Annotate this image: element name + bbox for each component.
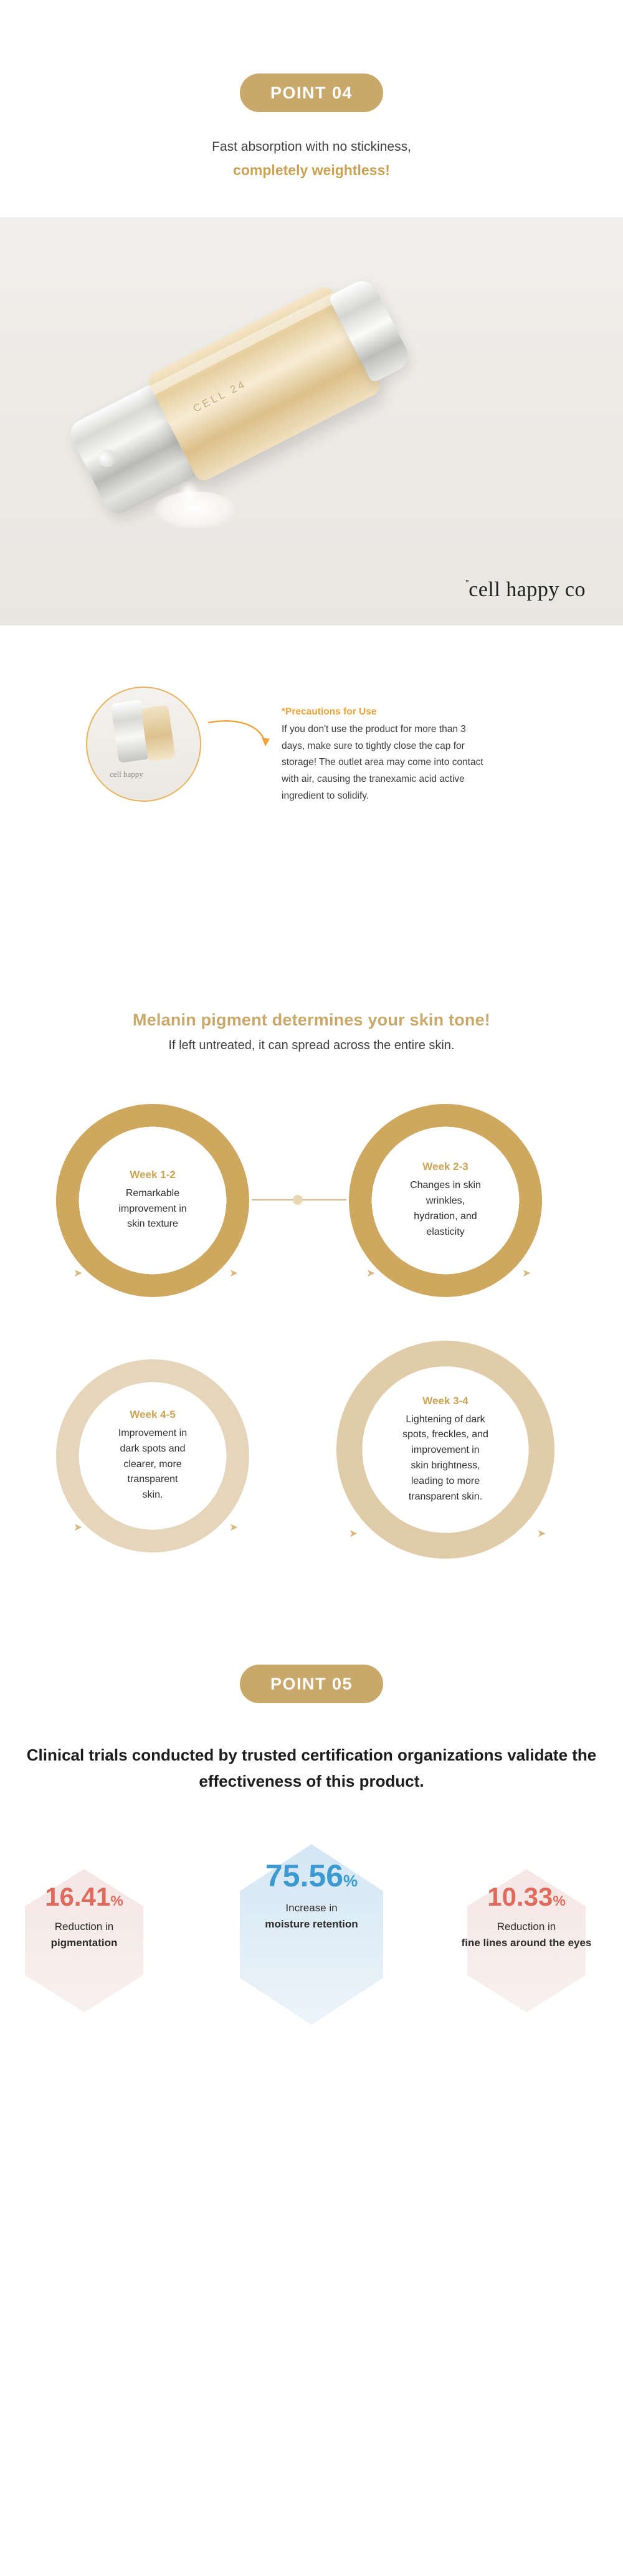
timeline-step-4: Week 3-4 Lightening of dark spots, freck… (336, 1341, 554, 1559)
product-bottle-image: CELL 24 (54, 233, 457, 541)
stat-3-value-group: 10.33% (461, 1884, 592, 1910)
flow-arrow-icon-3: ➤ (366, 1267, 375, 1280)
step-1-week: Week 1-2 (130, 1169, 175, 1181)
stat-card-2: 75.56% Increase in moisture retention (237, 1860, 386, 1932)
stat-1-value-group: 16.41% (19, 1884, 150, 1910)
stat-2-unit: % (343, 1871, 358, 1890)
flow-arrow-icon-4: ➤ (522, 1267, 531, 1280)
point-04-subtitle-line1: Fast absorption with no stickiness, (0, 140, 623, 154)
stat-1-value: 16.41 (45, 1882, 110, 1911)
point-04-badge: POINT 04 (240, 74, 383, 112)
clinical-stats-section: 16.41% Reduction in pigmentation 75.56% … (0, 1848, 623, 2072)
stat-2-caption-line2: moisture retention (265, 1918, 358, 1930)
step-1-desc: Remarkable improvement in skin texture (117, 1186, 189, 1232)
stat-1-caption-line2: pigmentation (51, 1937, 118, 1949)
step-3-desc: Improvement in dark spots and clearer, m… (117, 1426, 189, 1503)
step-2-desc: Changes in skin wrinkles, hydration, and… (409, 1178, 482, 1240)
melanin-section: Melanin pigment determines your skin ton… (0, 1010, 623, 1053)
timeline-step-2: Week 2-3 Changes in skin wrinkles, hydra… (349, 1104, 542, 1297)
step-4-week: Week 3-4 (422, 1395, 468, 1407)
stat-3-caption: Reduction in fine lines around the eyes (461, 1919, 592, 1951)
product-photo-band: CELL 24 ”cell happy co (0, 217, 623, 625)
stat-2-caption-line1: Increase in (285, 1902, 337, 1914)
flow-arrow-icon-7: ➤ (349, 1528, 358, 1540)
cream-swatch (155, 492, 235, 529)
flow-arrow-icon-5: ➤ (74, 1521, 82, 1534)
point-05-heading: Clinical trials conducted by trusted cer… (0, 1742, 623, 1794)
step-3-week: Week 4-5 (130, 1409, 175, 1421)
stat-2-value-group: 75.56% (237, 1860, 386, 1891)
point-04-subtitle-line2: completely weightless! (0, 162, 623, 179)
precaution-body: If you don't use the product for more th… (282, 721, 487, 804)
stat-3-caption-line1: Reduction in (497, 1921, 556, 1932)
flow-arrow-icon-8: ➤ (537, 1528, 546, 1540)
stat-2-value: 75.56 (265, 1858, 343, 1893)
precaution-title: *Precautions for Use (282, 706, 487, 718)
diagram-connector-dot (293, 1195, 303, 1205)
stat-3-value: 10.33 (487, 1882, 553, 1911)
flow-arrow-icon-6: ➤ (229, 1521, 238, 1534)
bottle-label-text: CELL 24 (191, 378, 249, 415)
stat-1-caption-line1: Reduction in (55, 1921, 114, 1932)
timeline-step-1: Week 1-2 Remarkable improvement in skin … (56, 1104, 249, 1297)
step-2-week: Week 2-3 (422, 1161, 468, 1173)
timeline-step-3: Week 4-5 Improvement in dark spots and c… (56, 1359, 249, 1552)
flow-arrow-icon-1: ➤ (74, 1267, 82, 1280)
precaution-text-block: *Precautions for Use If you don't use th… (282, 706, 487, 804)
flow-arrow-icon-2: ➤ (229, 1267, 238, 1280)
timeline-diagram: Week 1-2 Remarkable improvement in skin … (0, 1091, 623, 1590)
stat-3-caption-line2: fine lines around the eyes (462, 1937, 592, 1949)
stat-3-unit: % (553, 1893, 565, 1909)
step-4-desc: Lightening of dark spots, freckles, and … (402, 1412, 488, 1505)
melanin-headline: Melanin pigment determines your skin ton… (0, 1010, 623, 1030)
stat-1-caption: Reduction in pigmentation (19, 1919, 150, 1951)
thumbnail-brand-label: cell happy (110, 769, 143, 779)
melanin-subtext: If left untreated, it can spread across … (0, 1038, 623, 1053)
brand-logo: ”cell happy co (465, 578, 586, 602)
precaution-thumbnail: cell happy (86, 687, 201, 802)
point-05-section: POINT 05 Clinical trials conducted by tr… (0, 1665, 623, 1794)
curved-arrow-icon (206, 718, 274, 755)
point-05-badge: POINT 05 (240, 1665, 383, 1703)
brand-name-part2: co (565, 578, 586, 601)
stat-card-1: 16.41% Reduction in pigmentation (19, 1884, 150, 1951)
point-04-section: POINT 04 Fast absorption with no stickin… (0, 0, 623, 179)
precautions-section: cell happy *Precautions for Use If you d… (0, 680, 623, 867)
brand-name-part1: cell happy (468, 578, 565, 601)
stat-2-caption: Increase in moisture retention (237, 1900, 386, 1932)
stat-1-unit: % (110, 1893, 123, 1909)
stat-card-3: 10.33% Reduction in fine lines around th… (461, 1884, 592, 1951)
